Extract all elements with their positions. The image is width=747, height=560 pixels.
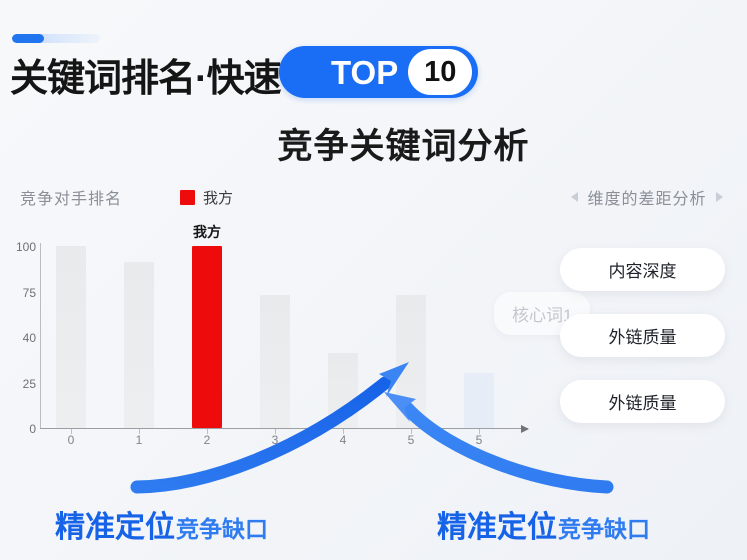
dimension-panel-header: 维度的差距分析 <box>547 185 747 209</box>
dimension-card[interactable]: 内容深度 <box>560 248 725 291</box>
bar-0 <box>56 246 86 428</box>
caption-right: 精准定位 竞争缺口 <box>437 502 650 546</box>
x-axis-line <box>40 428 528 429</box>
chart-plot-area: 100 75 40 25 0 我方 <box>40 247 530 429</box>
page-subtitle: 竞争关键词分析 <box>0 118 747 169</box>
dimension-card-label: 外链质量 <box>609 389 677 414</box>
y-tick-label: 25 <box>2 377 36 391</box>
caption-strong: 精准定位 <box>437 502 557 546</box>
top-badge-word: TOP <box>331 56 398 89</box>
x-tick-label: 5 <box>408 433 415 447</box>
chevron-left-icon <box>571 192 578 202</box>
caption-left: 精准定位 竞争缺口 <box>55 502 268 546</box>
dimension-panel: 维度的差距分析 内容深度 外链质量 外链质量 <box>547 185 747 209</box>
x-tick-label: 2 <box>204 433 211 447</box>
headline: 关键词排名·快速 <box>10 48 281 100</box>
top-badge: TOP 10 <box>279 46 478 98</box>
legend-swatch-icon <box>180 190 195 205</box>
bar-3 <box>260 295 290 428</box>
x-tick-label: 5 <box>476 433 483 447</box>
x-tick-label: 0 <box>68 433 75 447</box>
x-axis-arrow-icon <box>521 425 529 433</box>
progress-fill <box>12 34 44 43</box>
dimension-card-label: 内容深度 <box>609 257 677 282</box>
bar-6 <box>464 373 494 428</box>
chevron-right-icon <box>716 192 723 202</box>
y-tick-label: 75 <box>2 286 36 300</box>
x-axis-labels: 0 1 2 3 4 5 5 <box>40 433 528 455</box>
chart-header: 竞争对手排名 我方 <box>20 185 233 209</box>
chart-title: 竞争对手排名 <box>20 185 122 209</box>
dimension-panel-title: 维度的差距分析 <box>587 185 706 209</box>
x-tick-label: 3 <box>272 433 279 447</box>
progress-indicator <box>12 34 100 43</box>
dimension-card[interactable]: 外链质量 <box>560 380 725 423</box>
bar-1 <box>124 262 154 428</box>
chart-panel: 竞争对手排名 我方 100 75 40 25 0 我方 <box>0 185 560 485</box>
bar-4 <box>328 353 358 428</box>
slide-canvas: 关键词排名·快速 TOP 10 竞争关键词分析 竞争对手排名 我方 100 75… <box>0 0 747 560</box>
bar-group: 我方 <box>40 246 528 428</box>
chart-legend: 我方 <box>180 187 233 208</box>
y-tick-label: 40 <box>2 331 36 345</box>
dimension-card-label: 外链质量 <box>609 323 677 348</box>
page-title: 关键词排名·快速 <box>10 47 281 102</box>
x-tick-label: 4 <box>340 433 347 447</box>
legend-label: 我方 <box>203 187 233 208</box>
bar-2-highlight: 我方 <box>192 246 222 428</box>
top-badge-number: 10 <box>424 58 456 87</box>
dimension-card-list: 内容深度 外链质量 外链质量 <box>560 248 725 446</box>
caption-strong: 精准定位 <box>55 502 175 546</box>
caption-soft: 竞争缺口 <box>558 510 650 544</box>
dimension-card[interactable]: 外链质量 <box>560 314 725 357</box>
y-tick-label: 100 <box>2 240 36 254</box>
bar-highlight-label: 我方 <box>193 222 221 242</box>
x-tick-label: 1 <box>136 433 143 447</box>
top-badge-number-circle: 10 <box>408 49 472 95</box>
y-tick-label: 0 <box>2 422 36 436</box>
caption-soft: 竞争缺口 <box>176 510 268 544</box>
bar-5 <box>396 295 426 428</box>
y-axis-labels: 100 75 40 25 0 <box>2 247 36 429</box>
